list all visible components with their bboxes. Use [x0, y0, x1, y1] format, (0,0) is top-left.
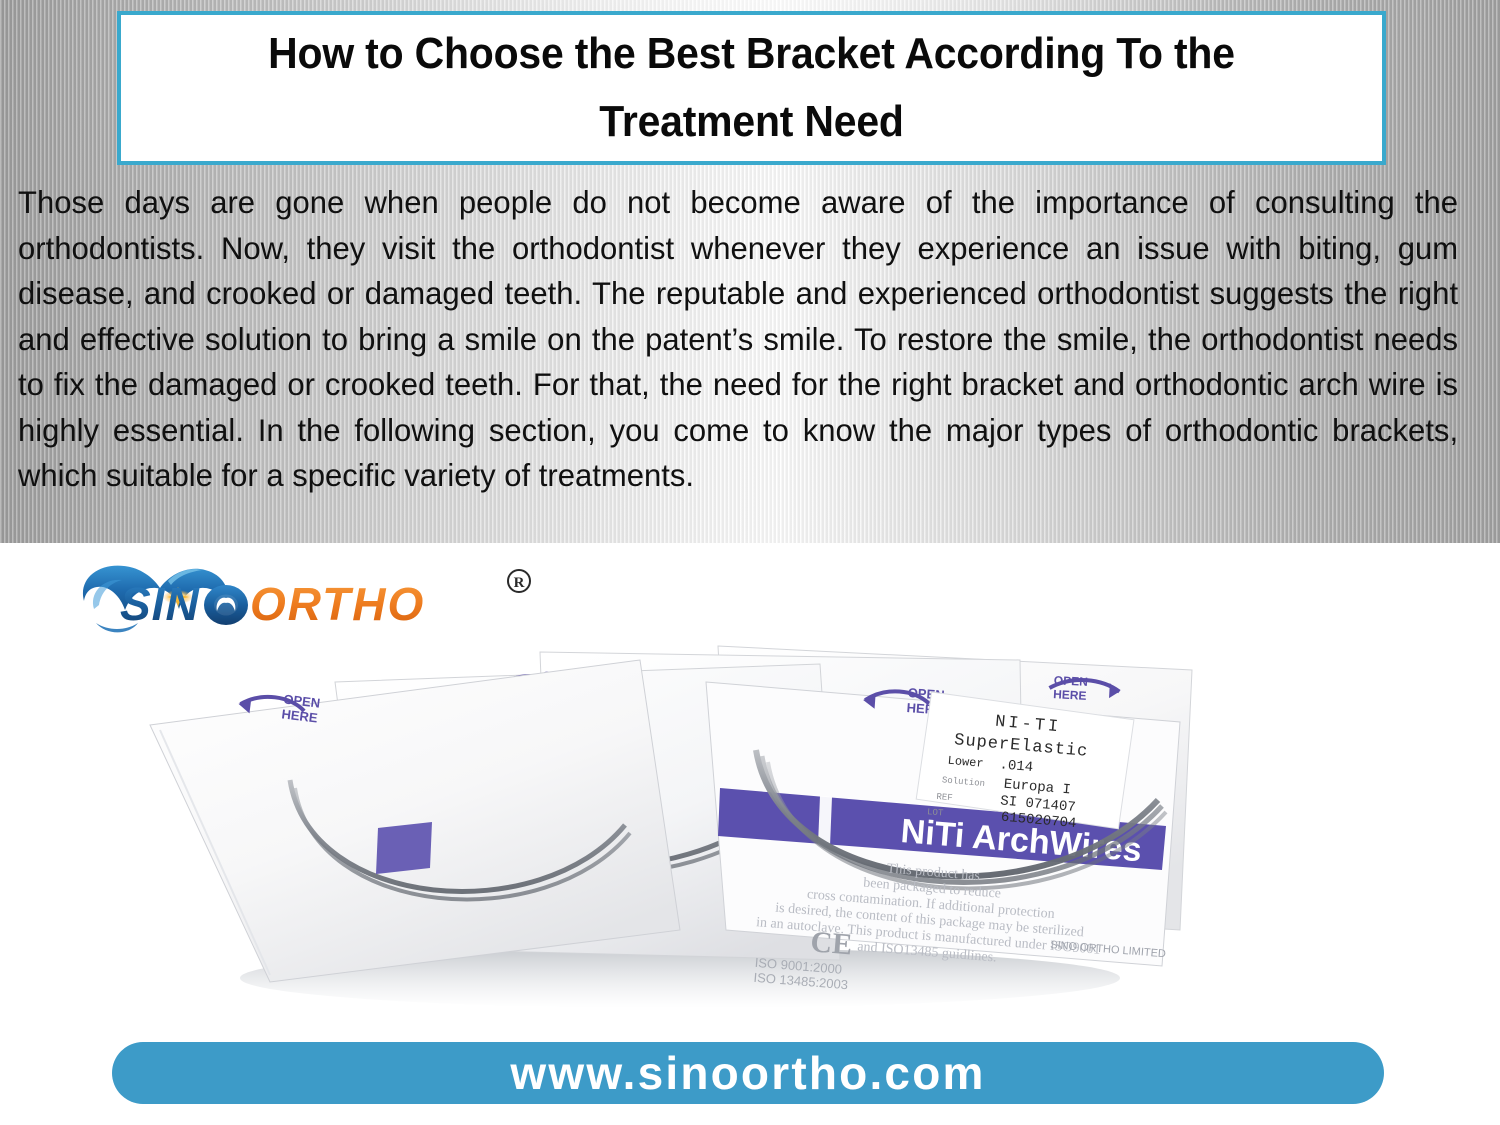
registered-trademark-icon: R — [508, 570, 530, 592]
sachet-package-1: OPEN HERE — [150, 660, 680, 982]
here-label: HERE — [1053, 687, 1087, 703]
website-url: www.sinoortho.com — [510, 1046, 985, 1100]
product-image: OPEN HERE OPEN HERE — [120, 630, 1250, 1020]
slide-canvas: How to Choose the Best Bracket According… — [0, 0, 1500, 1125]
website-footer-pill[interactable]: www.sinoortho.com — [112, 1042, 1384, 1104]
page-title: How to Choose the Best Bracket According… — [165, 20, 1338, 156]
label-line-3-val: .014 — [999, 757, 1034, 776]
logo-o-badge — [204, 585, 248, 625]
sinoortho-logo: SIN ORTHO R — [72, 557, 592, 639]
label-line-6-key: LOT — [927, 807, 945, 818]
ce-mark-icon: CE — [809, 925, 853, 961]
body-paragraph: Those days are gone when people do not b… — [18, 180, 1458, 499]
svg-text:R: R — [514, 575, 525, 591]
label-line-5-key: REF — [936, 792, 953, 803]
logo-text-ortho: ORTHO — [250, 578, 425, 630]
purple-accent-1 — [376, 822, 432, 874]
title-box: How to Choose the Best Bracket According… — [117, 11, 1386, 165]
logo-text-sino: SIN — [120, 578, 200, 630]
